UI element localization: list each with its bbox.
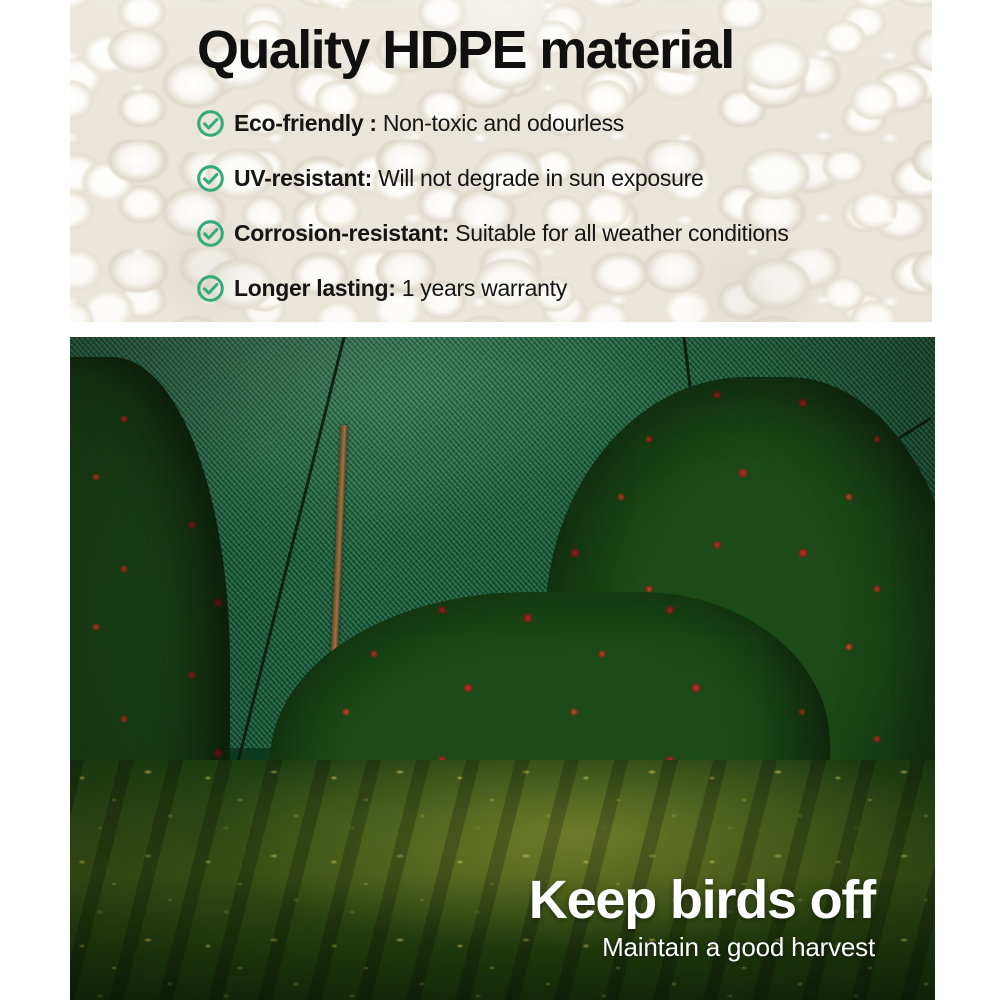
- check-circle-icon: [196, 274, 225, 303]
- check-circle-icon: [196, 109, 225, 138]
- check-circle-icon: [196, 164, 225, 193]
- photo-headline: Keep birds off: [529, 872, 875, 928]
- feature-text: Longer lasting: 1 years warranty: [234, 275, 567, 302]
- feature-lead: Longer lasting:: [234, 275, 396, 301]
- feature-lead: Eco-friendly :: [234, 110, 377, 136]
- feature-list: Eco-friendly : Non-toxic and odourless U…: [196, 96, 932, 316]
- feature-text: Eco-friendly : Non-toxic and odourless: [234, 110, 624, 137]
- check-circle-icon: [196, 219, 225, 248]
- feature-lead: Corrosion-resistant:: [234, 220, 449, 246]
- page-title: Quality HDPE material: [197, 21, 734, 79]
- feature-text: UV-resistant: Will not degrade in sun ex…: [234, 165, 703, 192]
- feature-detail: Will not degrade in sun exposure: [378, 165, 703, 191]
- orchard-photo-panel: Keep birds off Maintain a good harvest: [70, 337, 935, 1000]
- feature-item-uv-resistant: UV-resistant: Will not degrade in sun ex…: [196, 151, 932, 206]
- feature-text: Corrosion-resistant: Suitable for all we…: [234, 220, 789, 247]
- product-feature-image: Quality HDPE material Eco-friendly : Non…: [0, 0, 1000, 1000]
- feature-detail: Suitable for all weather conditions: [455, 220, 788, 246]
- feature-detail: Non-toxic and odourless: [383, 110, 624, 136]
- feature-item-longer-lasting: Longer lasting: 1 years warranty: [196, 261, 932, 316]
- photo-subheadline: Maintain a good harvest: [529, 932, 875, 962]
- feature-lead: UV-resistant:: [234, 165, 372, 191]
- photo-caption-block: Keep birds off Maintain a good harvest: [529, 872, 875, 962]
- feature-detail: 1 years warranty: [402, 275, 567, 301]
- feature-item-eco-friendly: Eco-friendly : Non-toxic and odourless: [196, 96, 932, 151]
- feature-item-corrosion-resistant: Corrosion-resistant: Suitable for all we…: [196, 206, 932, 261]
- hdpe-material-panel: Quality HDPE material Eco-friendly : Non…: [70, 0, 932, 322]
